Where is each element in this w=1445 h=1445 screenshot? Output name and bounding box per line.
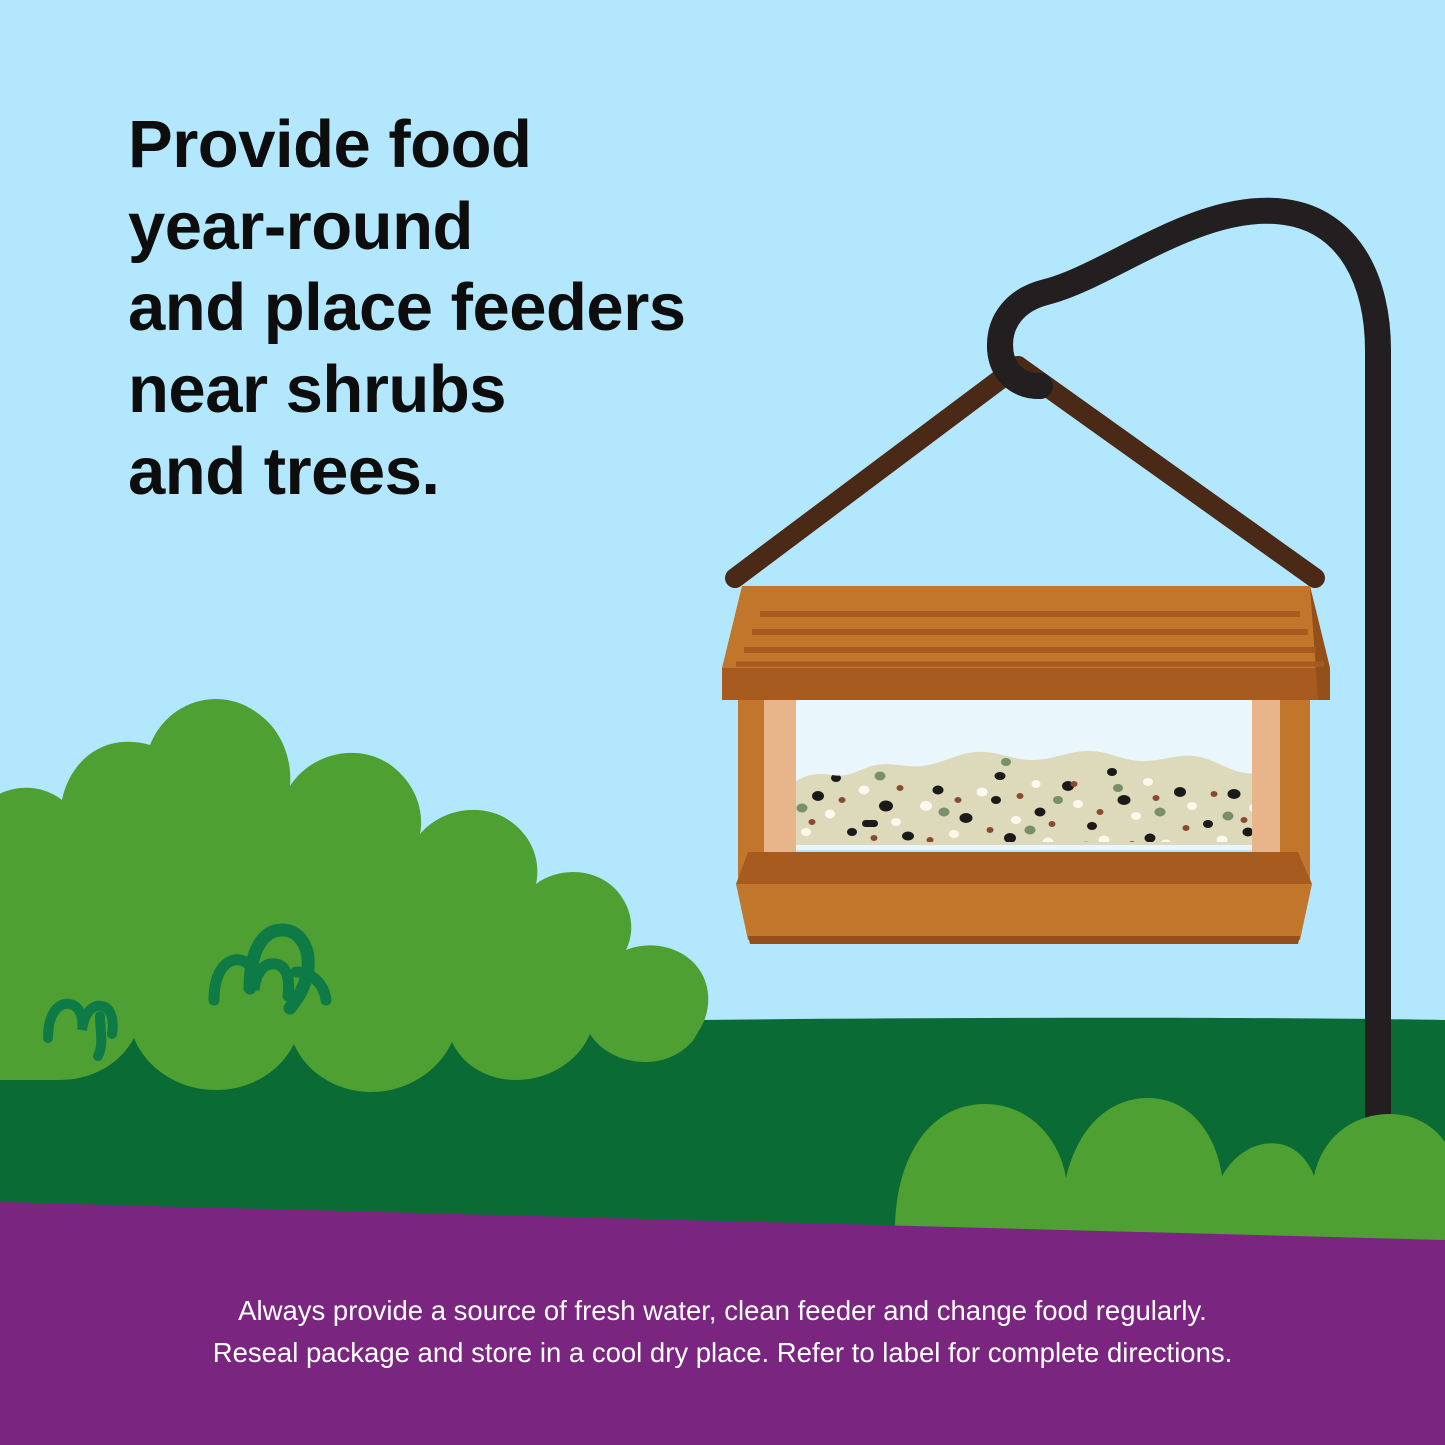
feeder-base-tray [736,852,1312,944]
poster-canvas: Provide food year-round and place feeder… [0,0,1445,1445]
right-shrubs [895,1098,1445,1250]
wooden-bird-feeder [722,586,1330,944]
footer-disclaimer: Always provide a source of fresh water, … [0,1290,1445,1374]
page-title: Provide food year-round and place feeder… [128,104,948,513]
feeder-roof [722,586,1330,700]
